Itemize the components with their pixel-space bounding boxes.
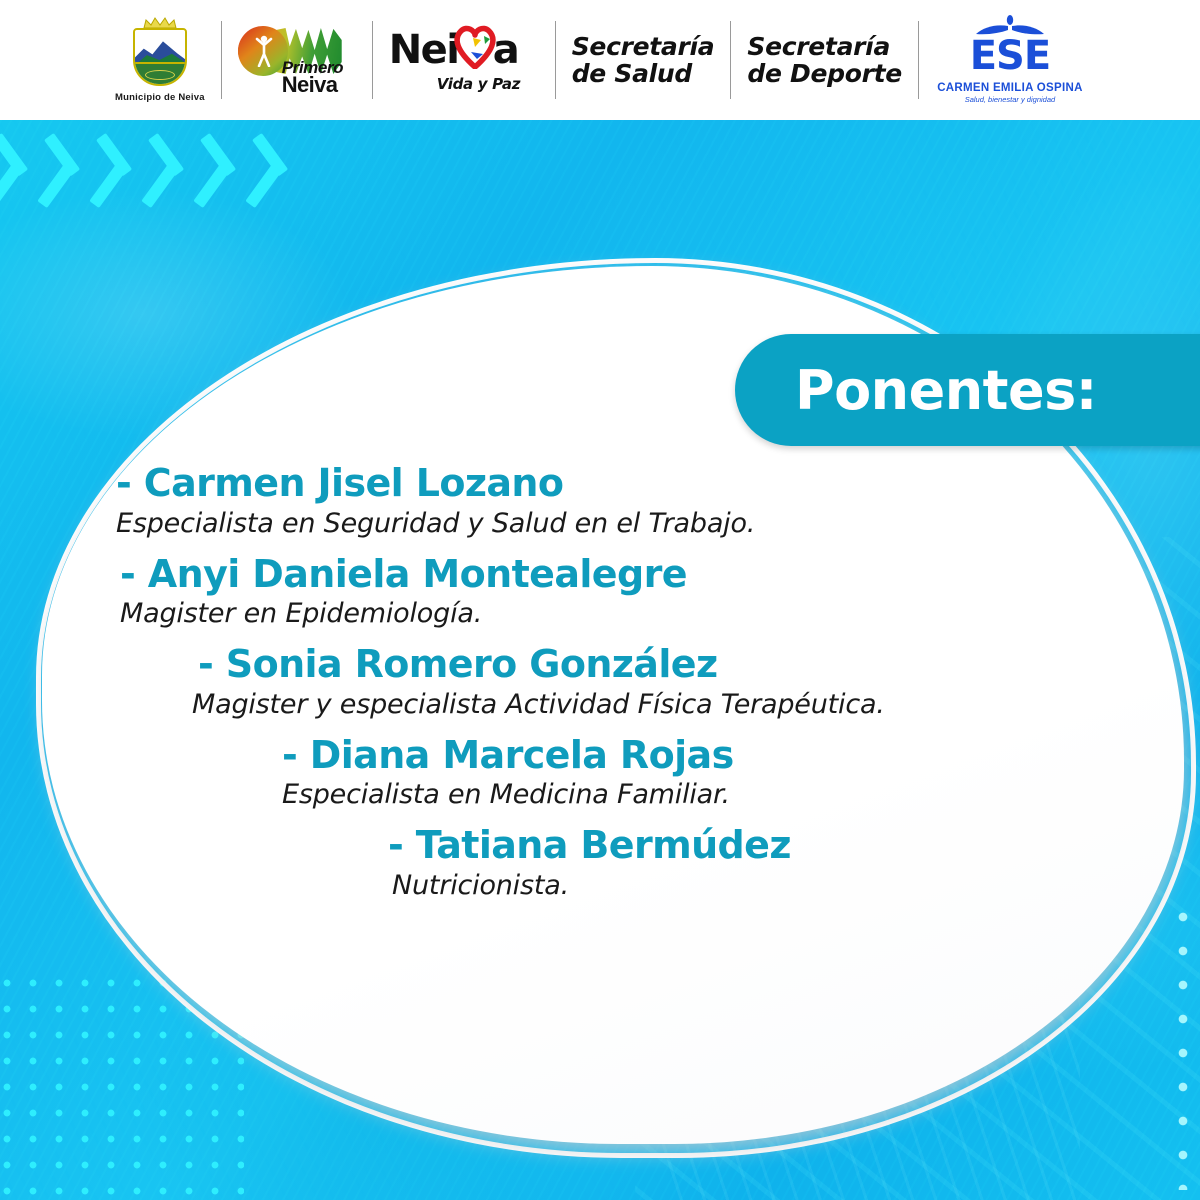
speaker-item: - Anyi Daniela Montealegre Magister en E… bbox=[70, 553, 1090, 630]
speaker-role: Especialista en Medicina Familiar. bbox=[282, 779, 1090, 810]
chevron-icon bbox=[246, 134, 298, 214]
speaker-role: Magister y especialista Actividad Física… bbox=[192, 689, 1090, 720]
secretaria-salud-line1: Secretaría bbox=[572, 33, 715, 60]
ese-name: CARMEN EMILIA OSPINA bbox=[937, 82, 1083, 94]
speaker-role: Nutricionista. bbox=[392, 870, 1090, 901]
ponentes-title: Ponentes: bbox=[795, 359, 1097, 422]
secretaria-deporte-line2: de Deporte bbox=[747, 60, 902, 87]
speaker-item: - Sonia Romero González Magister y espec… bbox=[70, 643, 1090, 720]
coat-of-arms-icon bbox=[133, 18, 187, 88]
speaker-item: - Carmen Jisel Lozano Especialista en Se… bbox=[70, 462, 1090, 539]
vida-y-paz-tagline: Vida y Paz bbox=[437, 75, 520, 93]
logo-secretaria-de-deporte: Secretaría de Deporte bbox=[731, 12, 918, 108]
chevron-icon bbox=[38, 134, 90, 214]
speaker-name: - Sonia Romero González bbox=[198, 643, 1090, 686]
speaker-list: - Carmen Jisel Lozano Especialista en Se… bbox=[70, 462, 1090, 1022]
person-figure-icon bbox=[255, 35, 273, 67]
ese-mark-letters: ESE bbox=[962, 33, 1058, 79]
speaker-name: - Carmen Jisel Lozano bbox=[116, 462, 1090, 505]
speaker-item: - Diana Marcela Rojas Especialista en Me… bbox=[70, 734, 1090, 811]
speaker-name: - Tatiana Bermúdez bbox=[388, 824, 1090, 867]
secretaria-salud-line2: de Salud bbox=[572, 60, 715, 87]
speaker-role: Especialista en Seguridad y Salud en el … bbox=[116, 508, 1090, 539]
neiva-label: Neiva bbox=[282, 72, 338, 98]
chevron-icon bbox=[0, 134, 38, 214]
speaker-name: - Anyi Daniela Montealegre bbox=[120, 553, 1090, 596]
secretaria-deporte-line1: Secretaría bbox=[747, 33, 902, 60]
institutional-logo-bar: Municipio de Neiva Primero Neiva Nei a bbox=[0, 0, 1200, 120]
escudo-caption: Municipio de Neiva bbox=[115, 92, 205, 103]
chevron-arrows-decoration bbox=[0, 134, 286, 214]
crown-icon bbox=[143, 17, 177, 29]
logo-primero-neiva: Primero Neiva bbox=[222, 12, 372, 108]
ponentes-banner: Ponentes: bbox=[735, 334, 1200, 446]
chevron-icon bbox=[142, 134, 194, 214]
logo-neiva-vida-y-paz: Nei a Vida y Paz bbox=[373, 12, 555, 108]
neiva-wordmark-left: Nei bbox=[389, 27, 459, 73]
logo-secretaria-de-salud: Secretaría de Salud bbox=[556, 12, 731, 108]
speaker-item: - Tatiana Bermúdez Nutricionista. bbox=[70, 824, 1090, 901]
chevron-icon bbox=[90, 134, 142, 214]
heart-logo-icon bbox=[451, 25, 499, 69]
chevron-icon bbox=[194, 134, 246, 214]
speaker-name: - Diana Marcela Rojas bbox=[282, 734, 1090, 777]
dot-column-decoration bbox=[1170, 900, 1196, 1190]
ese-tagline: Salud, bienestar y dignidad bbox=[965, 95, 1055, 104]
logo-escudo-municipio-neiva: Municipio de Neiva bbox=[99, 12, 221, 108]
logo-ese-carmen-emilia-ospina: ESE CARMEN EMILIA OSPINA Salud, bienesta… bbox=[919, 12, 1101, 108]
speaker-role: Magister en Epidemiología. bbox=[120, 598, 1090, 629]
